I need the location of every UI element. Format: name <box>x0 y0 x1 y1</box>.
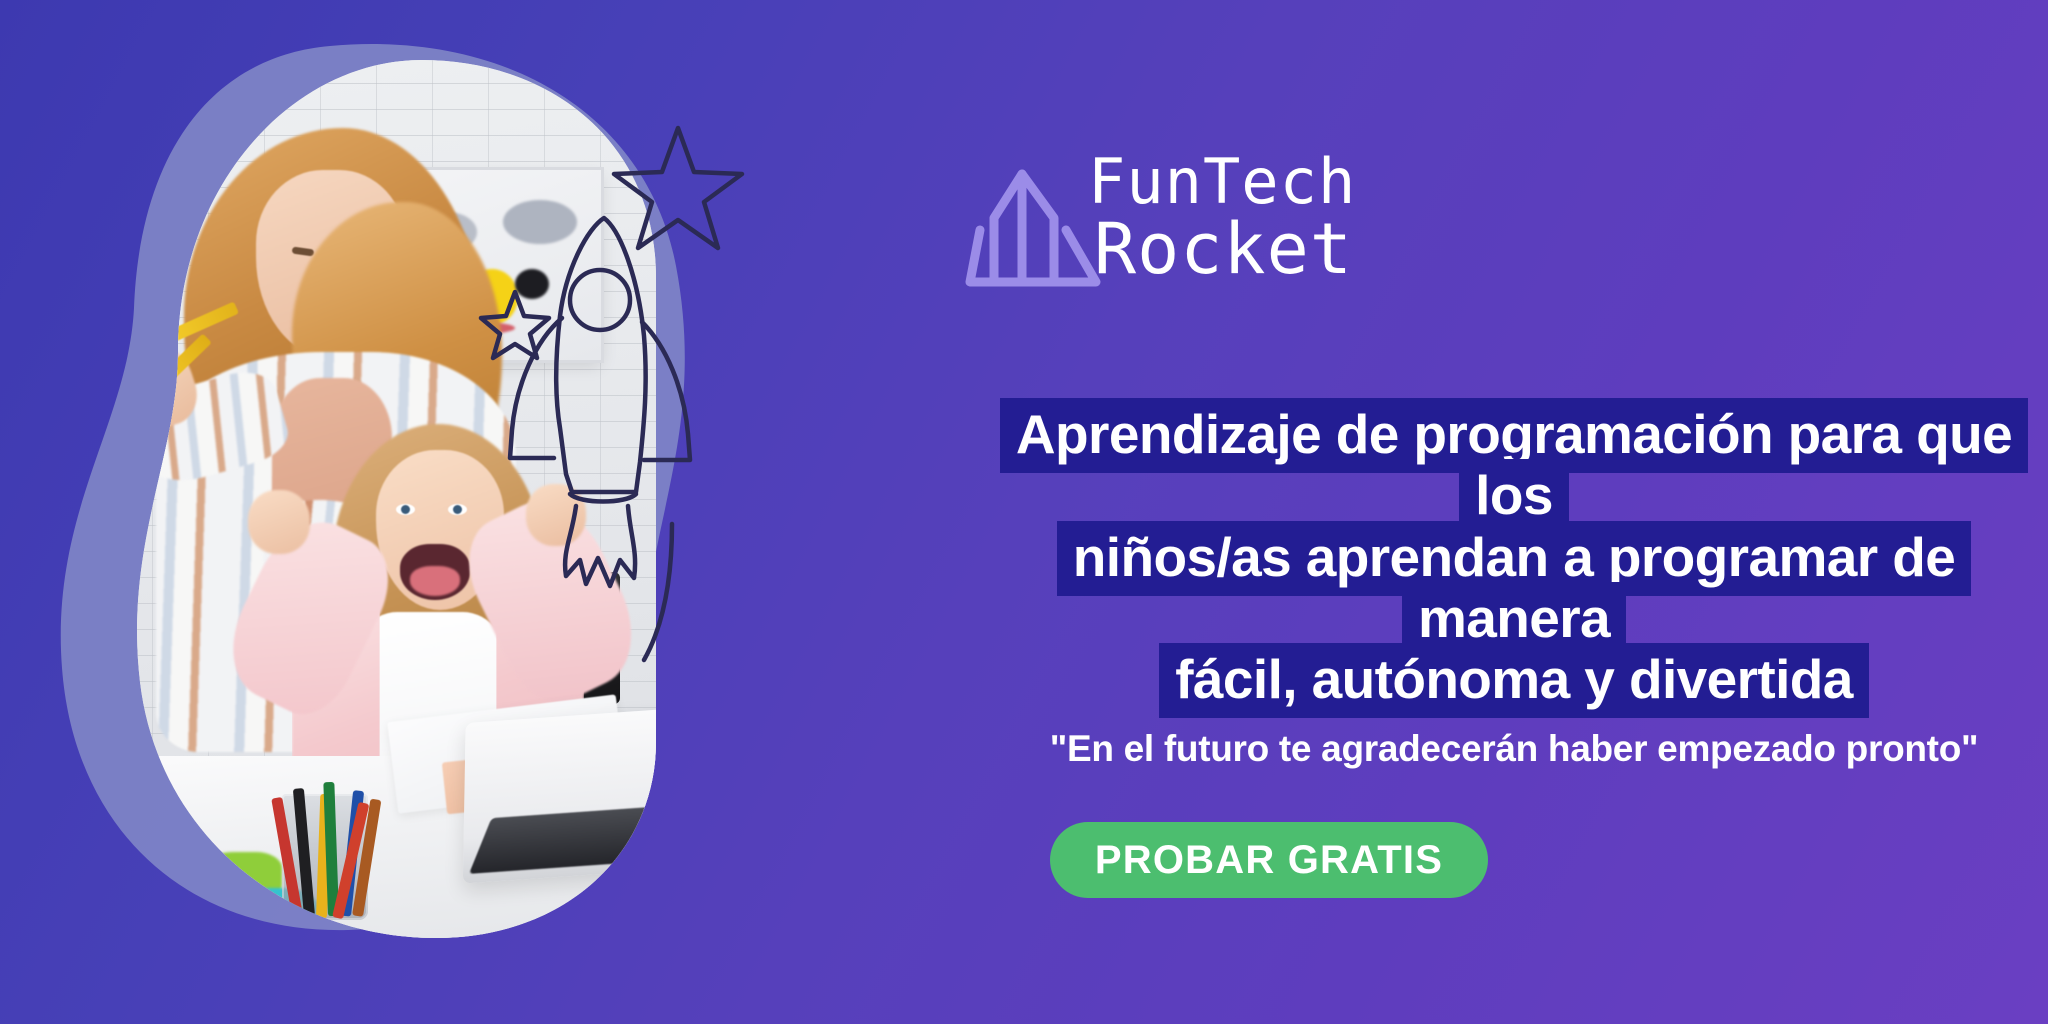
content-panel: FunTech Rocket Aprendizaje de programaci… <box>980 0 2048 1024</box>
star-large-doodle <box>614 128 742 248</box>
brand-wordmark: FunTech Rocket <box>1088 152 1356 283</box>
doodle-layer <box>0 0 980 1024</box>
tagline: "En el futuro te agradecerán haber empez… <box>980 728 2048 770</box>
headline: Aprendizaje de programación para que los… <box>980 404 2048 711</box>
brand-logo[interactable]: FunTech Rocket <box>980 168 2048 308</box>
promo-banner: FunTech Rocket Aprendizaje de programaci… <box>0 0 2048 1024</box>
headline-line-3: fácil, autónoma y divertida <box>1175 643 1853 718</box>
headline-line-1: Aprendizaje de programación para que los <box>1016 398 2012 534</box>
brand-name-line2: Rocket <box>1094 216 1356 283</box>
rocket-doodle <box>556 218 645 492</box>
headline-line-2: niños/as aprendan a programar de manera <box>1073 521 1955 657</box>
artwork-area <box>0 0 980 1024</box>
brand-name-line1: FunTech <box>1088 152 1356 212</box>
probar-gratis-button[interactable]: PROBAR GRATIS <box>1050 822 1488 898</box>
rocket-mountain-icon <box>964 158 1104 300</box>
